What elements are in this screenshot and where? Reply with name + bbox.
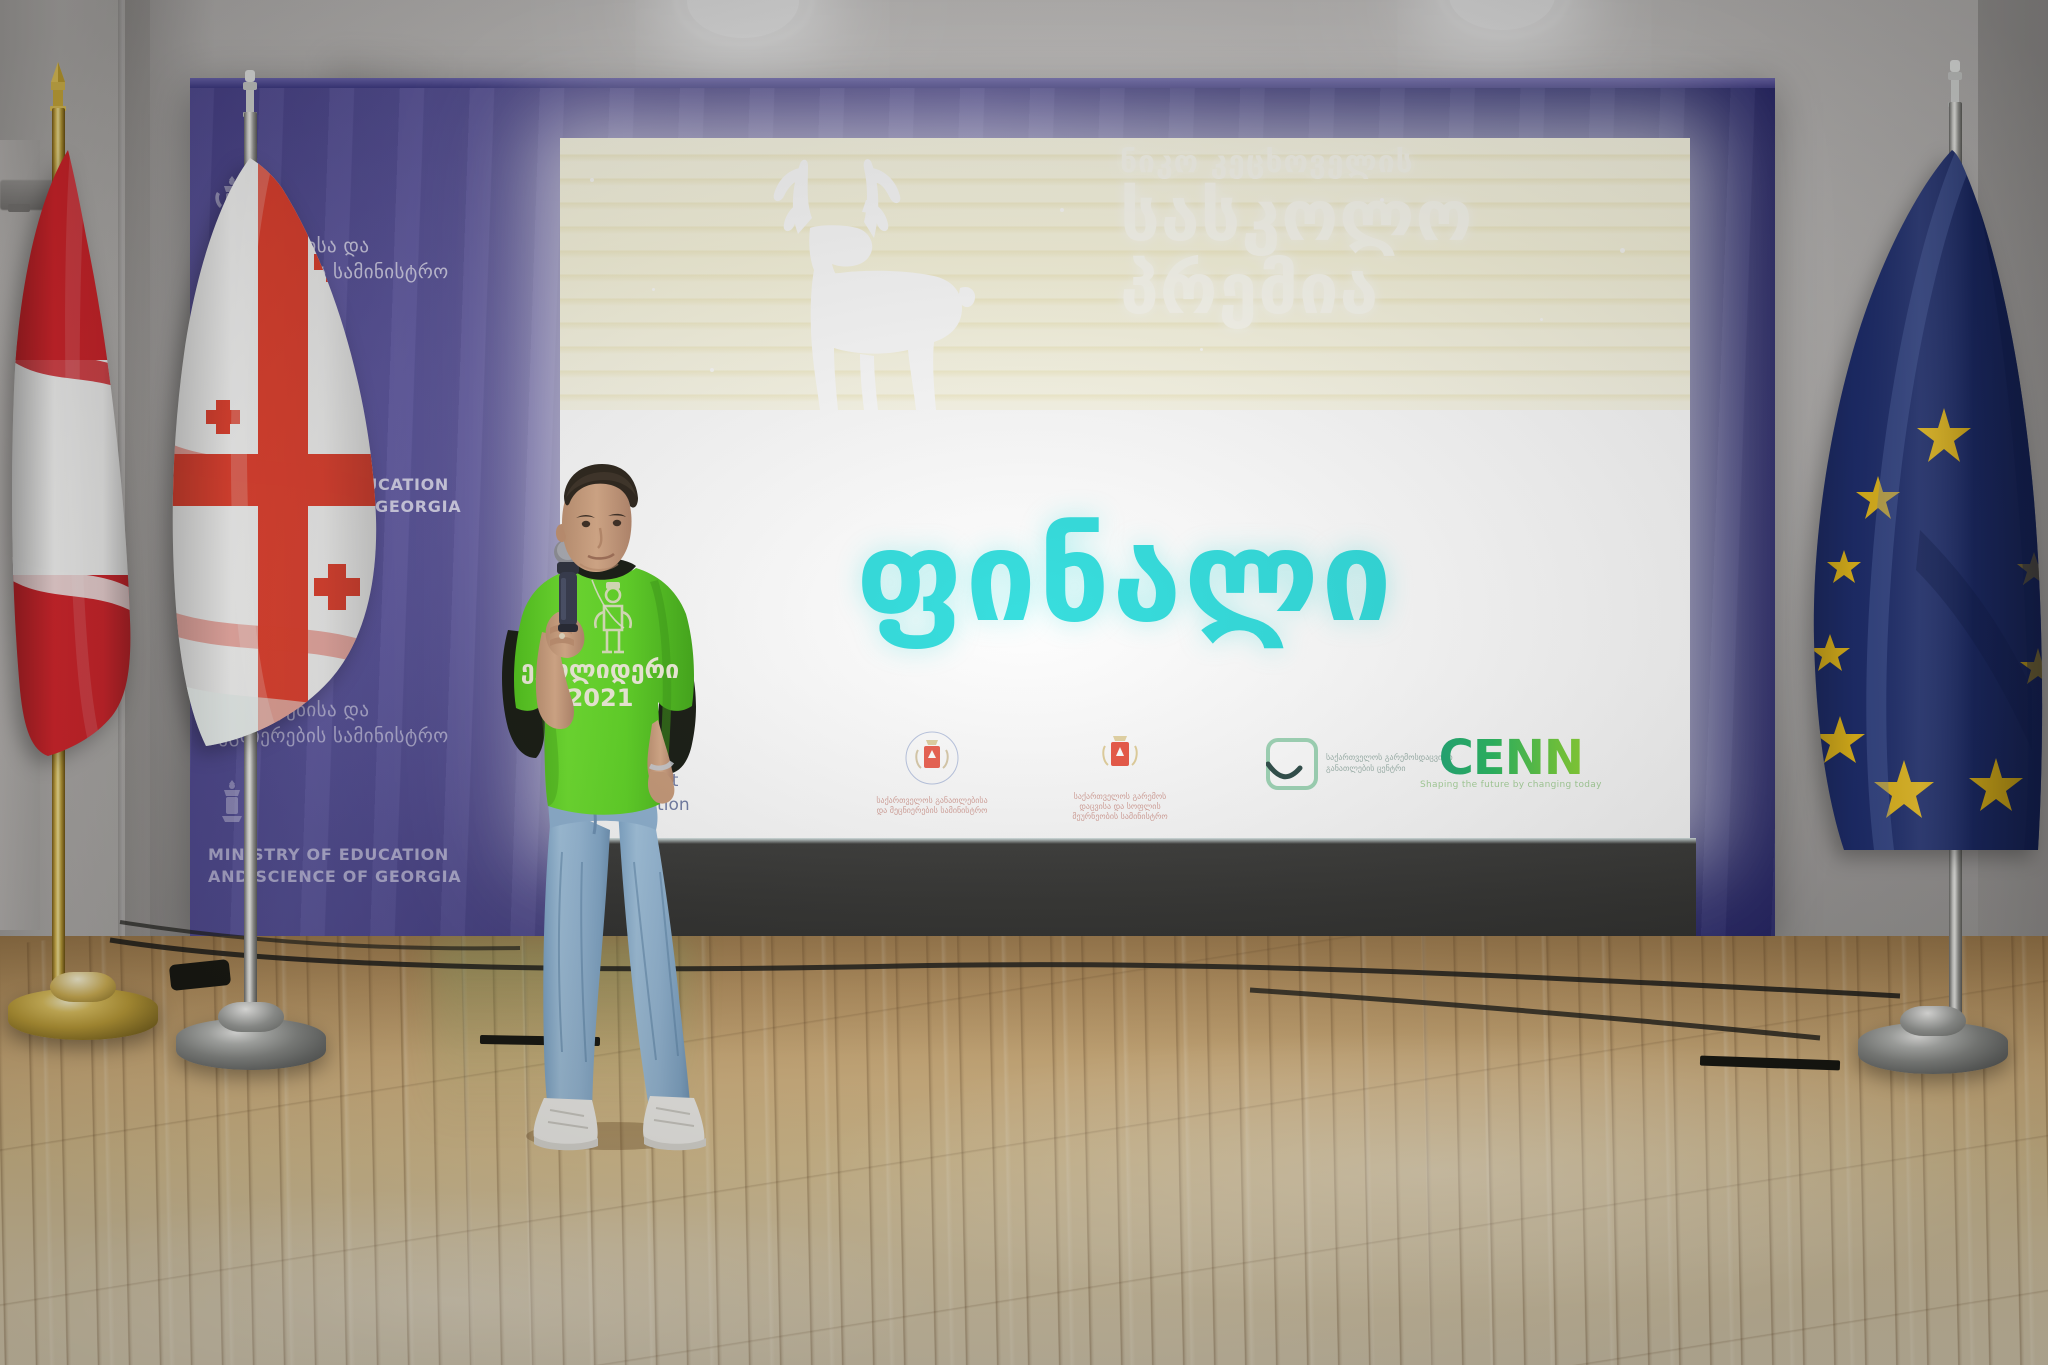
- austria-flag-base-dome: [50, 972, 116, 1002]
- banner-line-small: ნიკო კეცხოველის: [1120, 148, 1620, 178]
- floor-cables: [100, 900, 2000, 1080]
- eu-flag-base-dome: [1900, 1006, 1966, 1036]
- slide-banner-text: ნიკო კეცხოველის სასკოლო პრემია: [1120, 148, 1620, 326]
- tshirt-text-line-2: 2021: [567, 684, 634, 712]
- georgia-flag-base-dome: [218, 1002, 284, 1032]
- cenn-tagline: Shaping the future by changing today: [1420, 780, 1602, 790]
- ministry-of-environment-seal-icon: საქართველოს გარემოს დაცვისა და სოფლის მე…: [1060, 728, 1180, 822]
- presenter-figure: ეკოლიდერი 2021: [500, 452, 730, 1152]
- open-book-check-icon: [1266, 738, 1318, 790]
- photo-scene: განათლებისა და მეცნიერების სამინისტრო M: [0, 0, 2048, 1365]
- cenn-wordmark: CENN: [1420, 734, 1602, 782]
- slide-banner: ნიკო კეცხოველის სასკოლო პრემია: [560, 138, 1690, 410]
- cenn-logo: CENN Shaping the future by changing toda…: [1420, 734, 1602, 790]
- deer-silhouette-icon: [756, 142, 1006, 410]
- austria-flag-cloth: [8, 150, 140, 760]
- seal-caption: საქართველოს გარემოს დაცვისა და სოფლის მე…: [1060, 792, 1180, 822]
- georgia-flag-cloth: [162, 158, 392, 818]
- banner-line-big-2: პრემია: [1120, 253, 1620, 326]
- check-swoosh-icon: [1266, 758, 1318, 784]
- ministry-of-education-and-science-seal-icon: საქართველოს განათლებისა და მეცნიერების ს…: [872, 730, 992, 816]
- backdrop-top-edge: [190, 78, 1775, 88]
- eu-flag-cloth: [1800, 150, 2048, 850]
- banner-line-big-1: სასკოლო: [1120, 180, 1620, 253]
- seal-caption: საქართველოს განათლებისა და მეცნიერების ს…: [872, 796, 992, 816]
